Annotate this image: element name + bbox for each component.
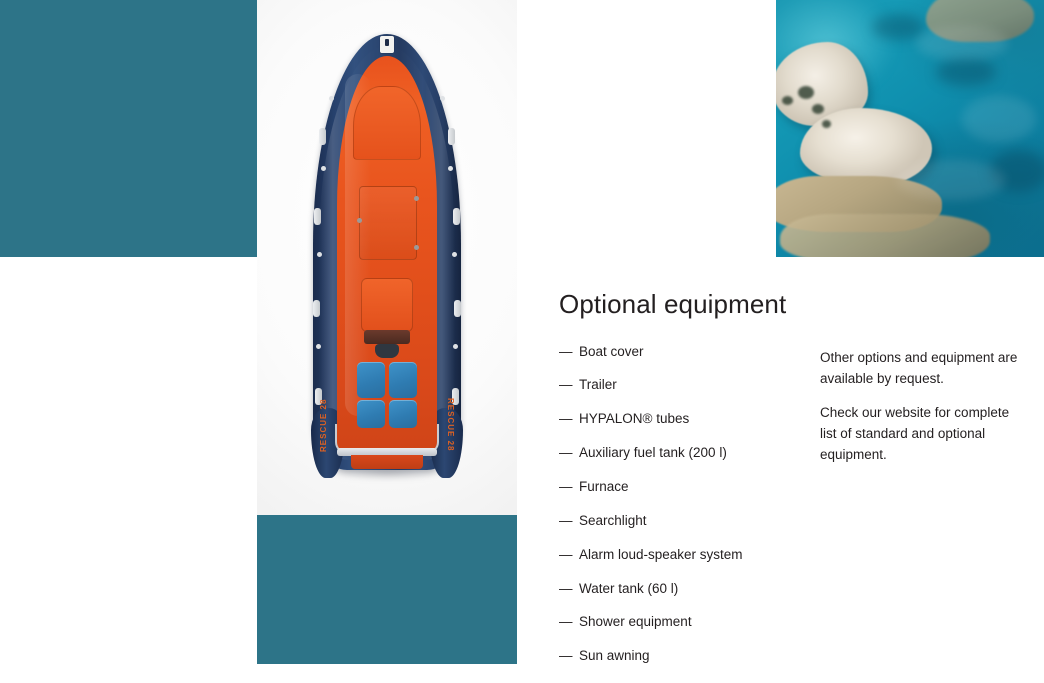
tube-stud [316,344,321,349]
dash-icon: — [559,548,572,563]
deck-hatch [359,186,417,260]
dash-icon: — [559,582,572,597]
list-item-label: Shower equipment [579,615,692,630]
hull-decal-right: RESCUE 28 [445,392,455,458]
tube-stud [453,344,458,349]
list-item: — Water tank (60 l) [559,582,809,597]
list-item: — Trailer [559,378,809,393]
tube-stud [321,166,326,171]
tube-stud [448,166,453,171]
passenger-seat [357,362,385,398]
water-ripple [916,26,1008,60]
console-seat-pad [364,330,410,344]
list-item-label: Trailer [579,378,617,393]
grab-handle [453,208,460,225]
vegetation [798,86,814,99]
water-ripple [896,160,1006,200]
vegetation [812,104,824,114]
list-item: — Boat cover [559,345,809,360]
list-item: — HYPALON® tubes [559,412,809,427]
list-item: — Auxiliary fuel tank (200 l) [559,446,809,461]
hull-decal-left: RESCUE 28 [319,392,329,458]
tube-stud [317,252,322,257]
dash-icon: — [559,446,572,461]
vegetation [782,96,793,105]
tube-stud [440,96,445,101]
list-item-label: Boat cover [579,345,644,360]
note-paragraph: Other options and equipment are availabl… [820,348,1025,390]
bow-locker [353,86,421,160]
rock-formation [780,214,990,257]
grab-handle [314,208,321,225]
note-paragraph: Check our website for complete list of s… [820,403,1025,466]
list-item-label: Sun awning [579,649,650,664]
list-item-label: Searchlight [579,514,647,529]
dash-icon: — [559,480,572,495]
list-item-label: Water tank (60 l) [579,582,678,597]
list-item-label: Alarm loud-speaker system [579,548,743,563]
passenger-seat [389,362,417,398]
dash-icon: — [559,615,572,630]
helm-console [361,278,413,332]
list-item-label: Furnace [579,480,629,495]
tube-stud [452,252,457,257]
transom-plate [351,455,423,469]
water-shadow [872,14,924,40]
notes-column: Other options and equipment are availabl… [820,348,1025,481]
content-area: Optional equipment — Boat cover — Traile… [559,290,1029,345]
boat-product-image: RESCUE 28 RESCUE 28 [257,0,517,515]
dash-icon: — [559,514,572,529]
sea-photo [776,0,1044,257]
helm-pedestal [375,344,399,358]
dash-icon: — [559,412,572,427]
list-item-label: HYPALON® tubes [579,412,689,427]
page-title: Optional equipment [559,290,1029,319]
water-shadow [936,58,996,86]
tube-stud [329,96,334,101]
boat-illustration: RESCUE 28 RESCUE 28 [257,0,517,515]
dash-icon: — [559,649,572,664]
dash-icon: — [559,345,572,360]
bow-badge-icon [380,36,394,53]
grab-handle [313,300,320,317]
dash-icon: — [559,378,572,393]
list-item: — Searchlight [559,514,809,529]
vegetation [822,120,831,128]
list-item-label: Auxiliary fuel tank (200 l) [579,446,727,461]
teal-block-bottom [257,515,517,664]
teal-block-top [0,0,257,257]
list-item: — Furnace [559,480,809,495]
water-ripple [962,96,1036,142]
list-item: — Alarm loud-speaker system [559,548,809,563]
optional-equipment-list: — Boat cover — Trailer — HYPALON® tubes … [559,345,809,683]
grab-handle [454,300,461,317]
list-item: — Shower equipment [559,615,809,630]
list-item: — Sun awning [559,649,809,664]
grab-handle [448,128,455,145]
grab-handle [319,128,326,145]
